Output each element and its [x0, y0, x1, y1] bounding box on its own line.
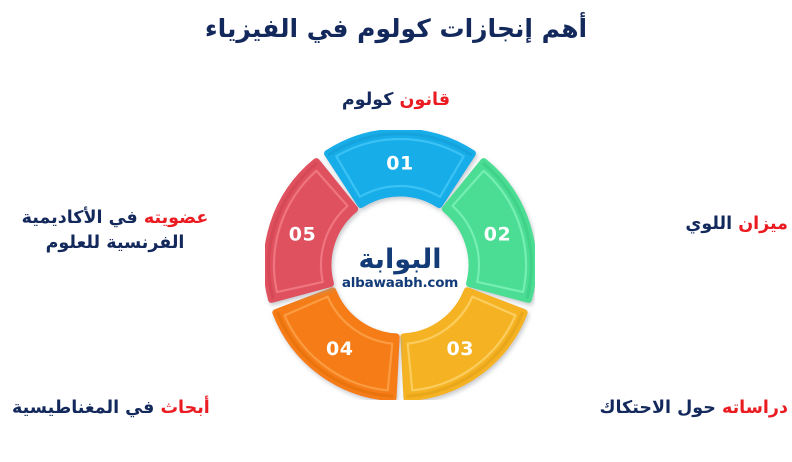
callout-bottom-right-highlight: دراساته — [722, 398, 788, 418]
page-title: أهم إنجازات كولوم في الفيزياء — [0, 14, 792, 43]
callout-top-highlight: قانون — [400, 90, 451, 110]
callout-top-rest: كولوم — [342, 90, 394, 110]
callout-label-left: عضويته في الأكاديمية الفرنسية للعلوم — [6, 206, 224, 257]
callout-label-top: قانون كولوم — [296, 88, 496, 113]
infographic-canvas: أهم إنجازات كولوم في الفيزياء 0102030405… — [0, 0, 792, 462]
logo-domain: albawaabh.com — [330, 275, 470, 291]
callout-left-rest2: الفرنسية للعلوم — [46, 233, 185, 253]
segment-number-02: 02 — [484, 223, 511, 245]
brand-logo: البوابة albawaabh.com — [330, 246, 470, 291]
callout-left-highlight: عضويته — [144, 208, 209, 228]
callout-right-highlight: ميزان — [738, 214, 788, 234]
callout-label-bottom-left: أبحاث في المغناطيسية — [12, 396, 322, 421]
segment-number-01: 01 — [386, 153, 413, 175]
segment-number-05: 05 — [289, 223, 316, 245]
segment-number-03: 03 — [447, 338, 474, 360]
callout-right-rest: اللوي — [685, 214, 732, 234]
callout-label-bottom-right: دراساته حول الاحتكاك — [504, 396, 788, 421]
callout-bottom-left-highlight: أبحاث — [160, 398, 209, 418]
callout-bottom-right-rest: حول الاحتكاك — [599, 398, 715, 418]
callout-bottom-left-rest: في المغناطيسية — [12, 398, 154, 418]
logo-wordmark: البوابة — [330, 246, 470, 274]
callout-left-rest: في الأكاديمية — [22, 208, 138, 228]
segment-number-04: 04 — [326, 338, 353, 360]
callout-label-right: ميزان اللوي — [592, 212, 788, 237]
